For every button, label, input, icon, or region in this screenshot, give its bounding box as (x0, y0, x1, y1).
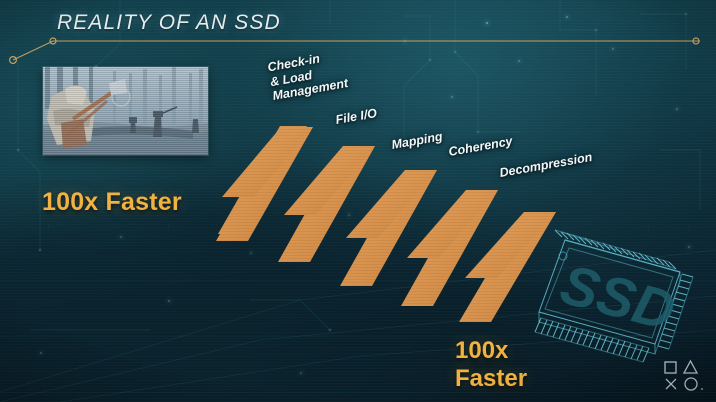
vignette-overlay (0, 0, 716, 402)
presentation-slide: REALITY OF AN SSD (0, 0, 716, 402)
